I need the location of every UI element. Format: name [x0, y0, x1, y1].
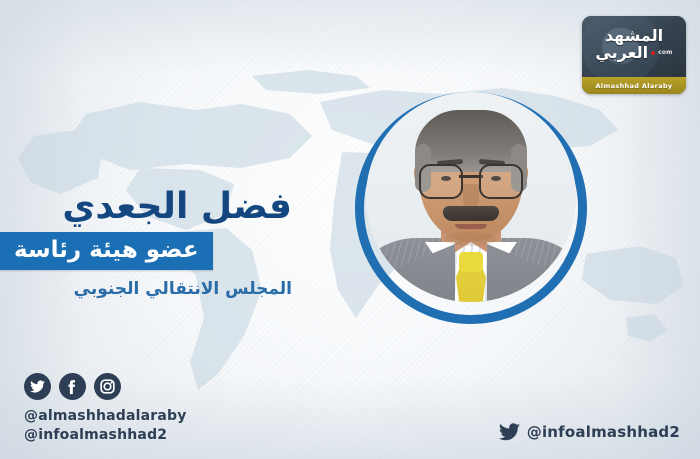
portrait-photo-clip	[366, 58, 576, 324]
nose	[463, 184, 479, 208]
person-text-block: فضل الجعدي عضو هيئة رئاسة المجلس الانتقا…	[0, 186, 310, 300]
social-icons-row	[24, 373, 187, 400]
social-handle-primary[interactable]: @almashhadalaraby	[24, 407, 187, 426]
news-graphic-card: المشهد com العربي Almashhad Alaraby	[0, 0, 700, 459]
social-handle-secondary[interactable]: @infoalmashhad2	[24, 426, 187, 445]
mustache	[443, 206, 499, 221]
chin	[445, 232, 497, 246]
role-badge-wrapper: عضو هيئة رئاسة	[0, 232, 292, 270]
person-name: فضل الجعدي	[0, 186, 292, 228]
twitter-handle-right[interactable]: @infoalmashhad2	[527, 423, 680, 441]
logo-arabic-line-2: العربي	[595, 44, 648, 61]
necktie-knot	[459, 252, 483, 272]
portrait-container	[355, 92, 587, 324]
twitter-bird-icon[interactable]	[499, 423, 520, 441]
lens-right	[479, 164, 523, 199]
organization-name: المجلس الانتقالي الجنوبي	[0, 278, 292, 300]
logo-arabic-line-1: المشهد	[605, 27, 663, 44]
logo-red-dot-icon	[651, 51, 655, 55]
twitter-handle-block: @infoalmashhad2	[499, 423, 680, 441]
role-badge: عضو هيئة رئاسة	[0, 232, 213, 270]
facebook-icon[interactable]	[59, 373, 86, 400]
mouth	[455, 224, 487, 229]
lens-left	[419, 164, 463, 199]
logo-arabic-line-2-row: com العربي	[595, 44, 672, 61]
twitter-icon[interactable]	[24, 373, 51, 400]
logo-latin-name: Almashhad Alaraby	[596, 82, 673, 90]
portrait-photo	[366, 92, 576, 302]
logo-com-label: com	[658, 44, 673, 61]
logo-name-band: Almashhad Alaraby	[582, 77, 686, 94]
social-block: @almashhadalaraby @infoalmashhad2	[24, 373, 187, 445]
instagram-icon[interactable]	[94, 373, 121, 400]
channel-logo: المشهد com العربي Almashhad Alaraby	[582, 16, 686, 94]
